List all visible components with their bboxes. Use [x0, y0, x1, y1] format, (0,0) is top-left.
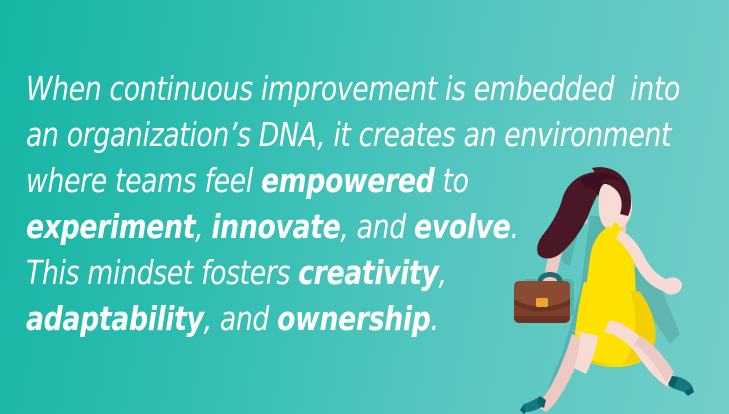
quote-emphasis: innovate: [211, 207, 340, 246]
quote-line-4: experiment, innovate, and evolve.: [26, 204, 647, 250]
quote-slide: When continuous improvement is embedded …: [0, 0, 729, 414]
quote-text: where teams feel: [26, 161, 261, 200]
quote-line-2: an organization’s DNA, it creates an env…: [26, 112, 647, 158]
quote-emphasis: creativity: [298, 253, 438, 292]
quote-text: .: [431, 299, 439, 338]
quote-text: , and: [204, 299, 278, 338]
quote-text: an organization’s DNA, it creates an env…: [26, 115, 671, 154]
quote-text: ,: [195, 207, 211, 246]
quote-text-block: When continuous improvement is embedded …: [26, 66, 716, 342]
quote-text: ,: [438, 253, 446, 292]
quote-line-6: adaptability, and ownership.: [26, 296, 647, 342]
back-leg: [520, 330, 598, 414]
quote-line-3: where teams feel empowered to: [26, 158, 647, 204]
quote-emphasis: adaptability: [26, 299, 204, 338]
quote-line-5: This mindset fosters creativity,: [26, 250, 647, 296]
quote-text: This mindset fosters: [26, 253, 298, 292]
quote-text: , and: [340, 207, 414, 246]
quote-line-1: When continuous improvement is embedded …: [26, 66, 647, 112]
quote-emphasis: evolve: [414, 207, 510, 246]
quote-emphasis: empowered: [261, 161, 434, 200]
quote-emphasis: ownership: [277, 299, 430, 338]
quote-text: When continuous improvement is embedded …: [26, 69, 680, 108]
quote-text: to: [434, 161, 468, 200]
quote-emphasis: experiment: [26, 207, 195, 246]
quote-text: .: [510, 207, 518, 246]
